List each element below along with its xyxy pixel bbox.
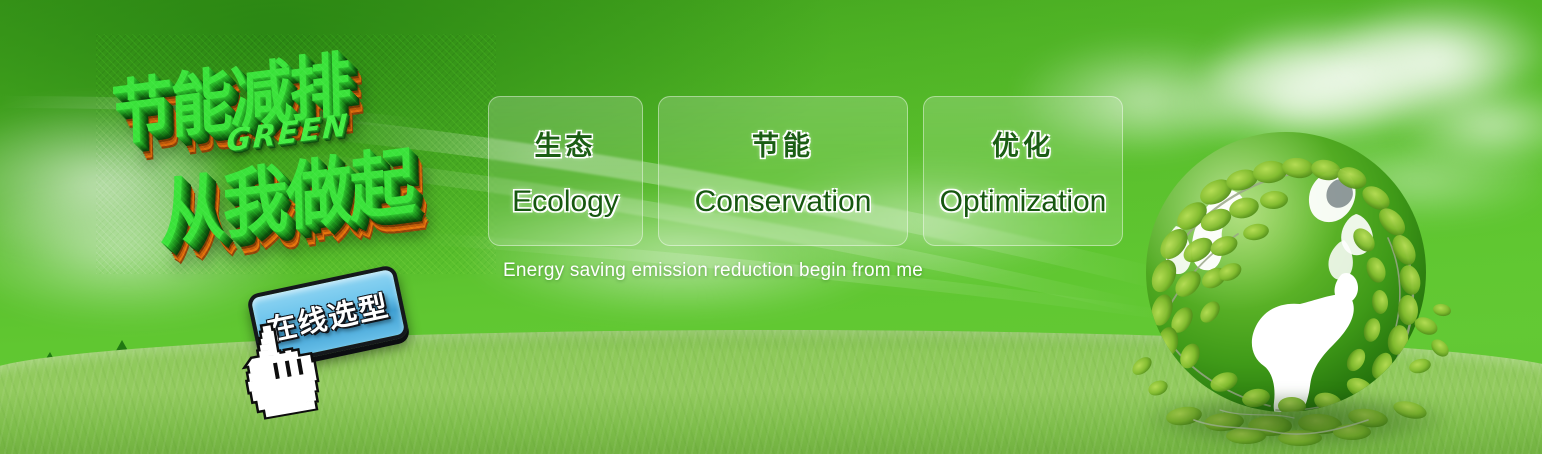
feature-card-conservation-cn: 节能 xyxy=(752,124,814,163)
feature-card-row: 生态 Ecology 节能 Conservation 优化 Optimizati… xyxy=(488,96,1123,246)
feature-card-conservation[interactable]: 节能 Conservation xyxy=(658,96,908,246)
cloud-right-top xyxy=(1330,0,1542,95)
green-energy-banner: 节能减排 GREEN 从我做起 在线选型 生态 Ecology 节能 Conse… xyxy=(0,0,1542,454)
feature-card-ecology-en: Ecology xyxy=(512,185,619,219)
feature-card-optimization-en: Optimization xyxy=(940,185,1107,219)
feature-card-optimization-cn: 优化 xyxy=(992,124,1054,163)
green-earth-globe xyxy=(1124,120,1454,450)
cloud-right-main xyxy=(1210,18,1510,123)
feature-card-optimization[interactable]: 优化 Optimization xyxy=(923,96,1123,246)
feature-card-ecology[interactable]: 生态 Ecology xyxy=(488,96,643,246)
tagline-text: Energy saving emission reduction begin f… xyxy=(503,260,923,282)
headline-3d-title: 节能减排 GREEN 从我做起 xyxy=(96,34,496,274)
feature-card-conservation-en: Conservation xyxy=(695,185,872,219)
feature-card-ecology-cn: 生态 xyxy=(535,124,597,163)
globe-ground-shadow xyxy=(1146,392,1446,448)
